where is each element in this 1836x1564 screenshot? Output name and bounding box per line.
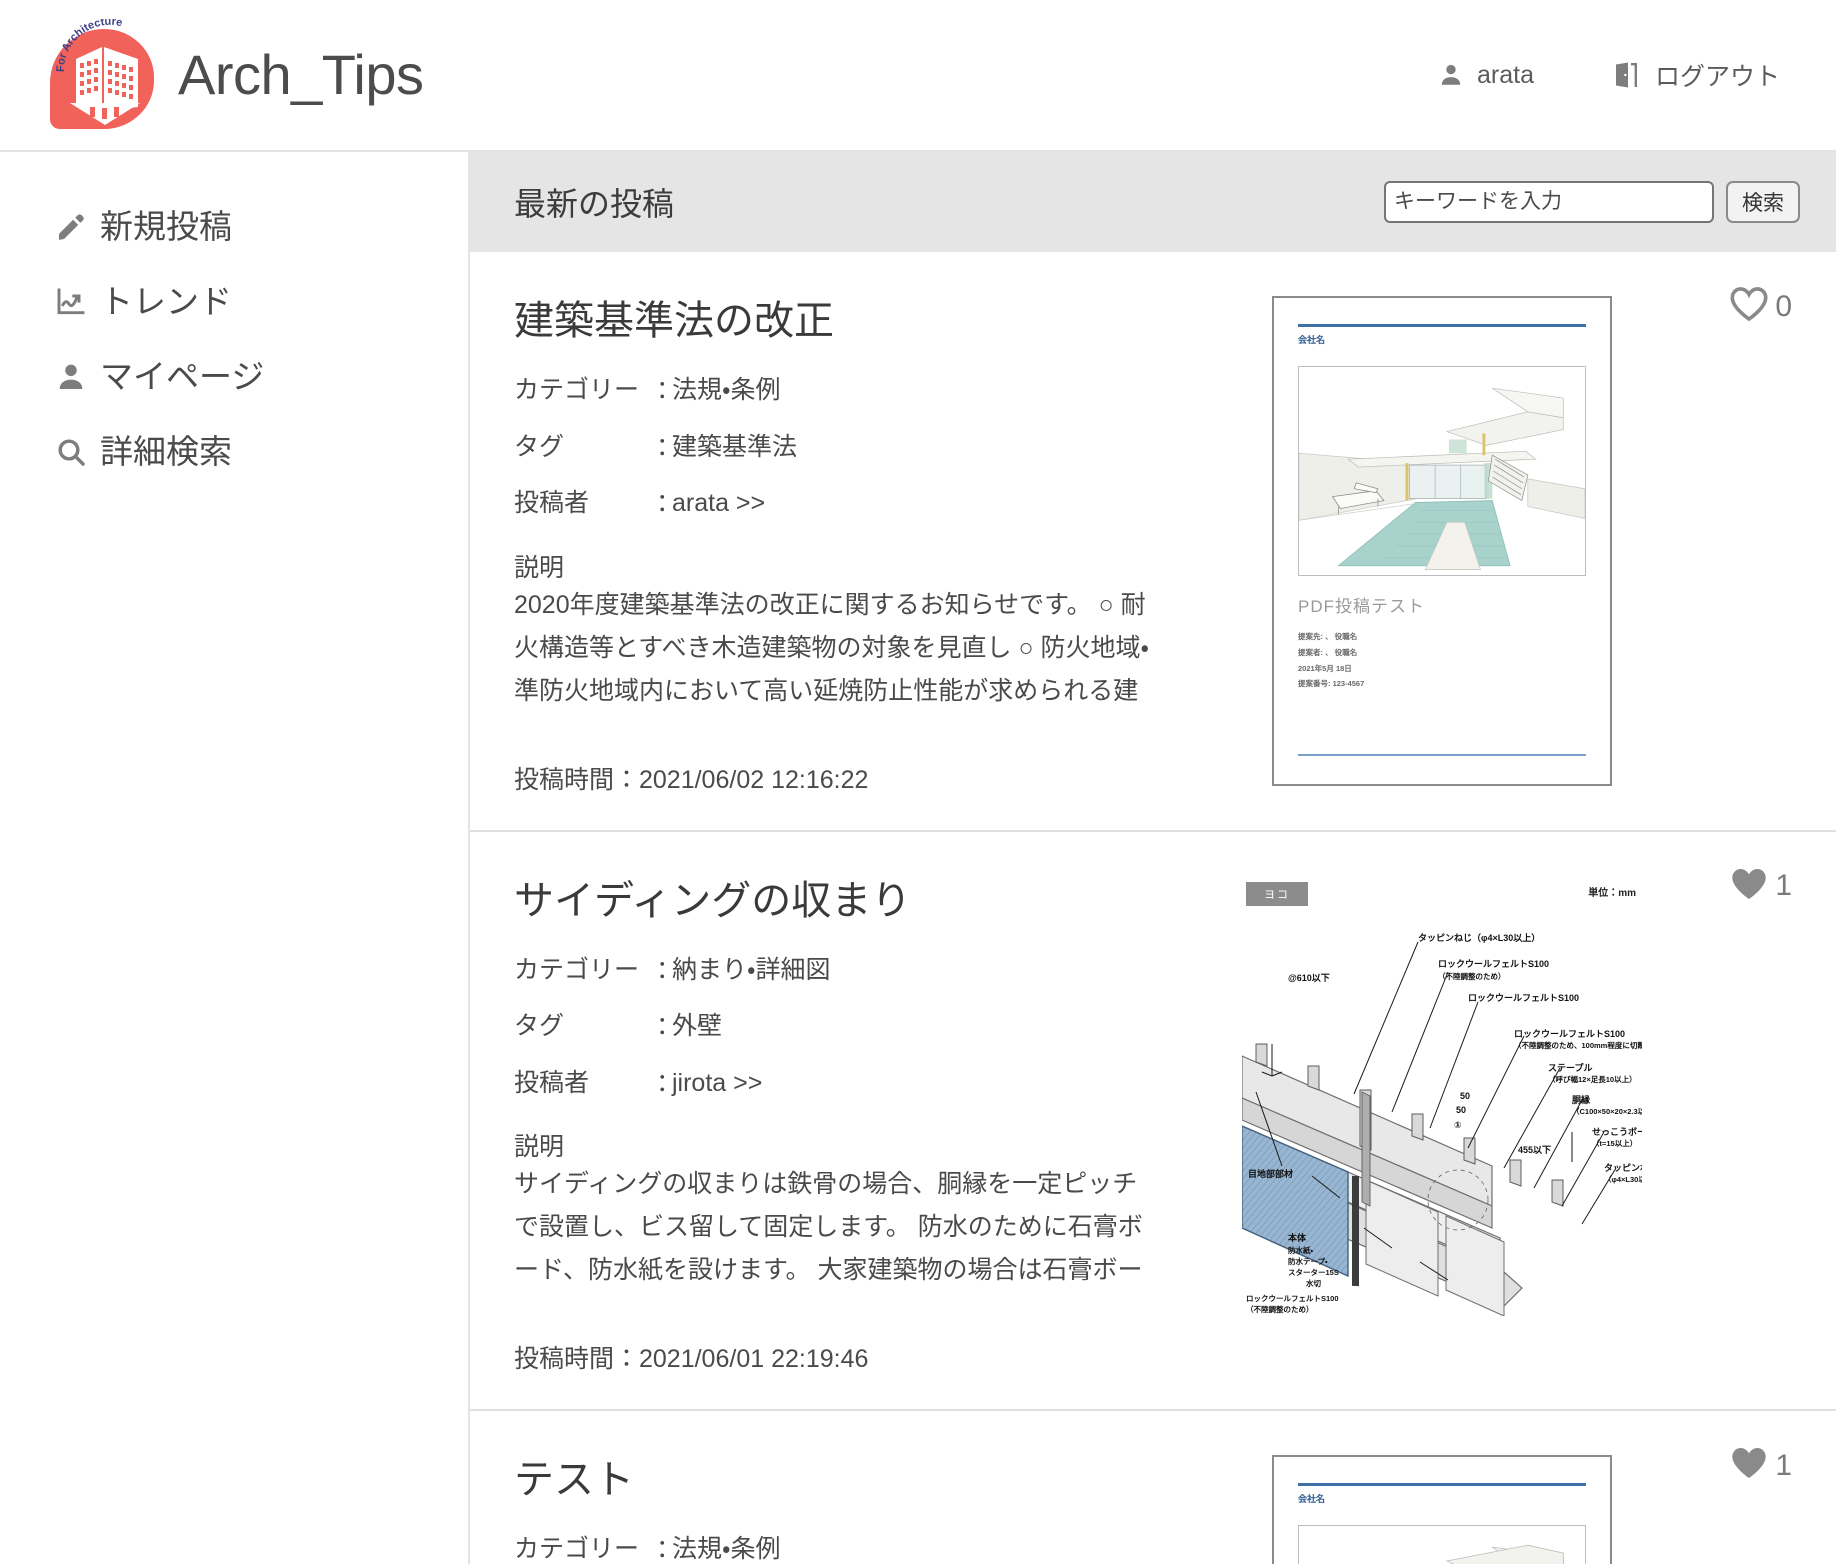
page-layout: 新規投稿 トレンド マイページ <box>0 152 1836 1564</box>
drawing-annotation: ① <box>1454 1119 1462 1132</box>
heart-filled-icon <box>1729 866 1769 907</box>
drawing-annotation: （不陸調整のため、100mm程度に切断したもの） <box>1514 1041 1642 1052</box>
pdf-meta-line: 2021年5月 18日 <box>1298 661 1586 677</box>
post-item[interactable]: 0 建築基準法の改正 カテゴリー ： 法規・条例 タグ ： 建築基準法 投稿者 … <box>470 252 1836 832</box>
drawing-annotation: 455以下 <box>1518 1144 1551 1157</box>
post-thumbnail[interactable]: 会社名 <box>1242 1455 1642 1564</box>
drawing-annotation: 胴縁 <box>1572 1094 1590 1107</box>
drawing-annotation: ロックウールフェルトS100 <box>1246 1294 1339 1305</box>
app-header: For Architecture Arch_Tips arata <box>0 0 1836 152</box>
header-user[interactable]: arata <box>1438 61 1534 90</box>
drawing-annotation: （不陸調整のため） <box>1438 972 1506 983</box>
pdf-doc-title: PDF投稿テスト <box>1298 592 1586 617</box>
main-content: 最新の投稿 検索 0 建築基準法の改正 カテゴリー ： <box>470 152 1836 1564</box>
sidebar-item-label: 詳細検索 <box>100 431 232 474</box>
category-value: 法規・条例 <box>672 1533 781 1564</box>
colon: ： <box>656 374 672 407</box>
author-label: 投稿者 <box>514 487 656 520</box>
sidebar-item-label: マイページ <box>100 356 264 399</box>
search-input[interactable] <box>1384 181 1714 223</box>
drawing-annotation: 水切 <box>1306 1279 1321 1290</box>
post-category-row: カテゴリー ： 法規・条例 <box>514 1533 1154 1564</box>
category-label: カテゴリー <box>514 954 656 987</box>
like-count: 1 <box>1775 1449 1792 1483</box>
brand[interactable]: For Architecture Arch_Tips <box>0 19 424 131</box>
pdf-meta-line: 提案番号: 123-4567 <box>1298 676 1586 692</box>
pdf-image-frame <box>1298 366 1586 576</box>
drawing-annotation: （φ4×L30以上） <box>1604 1175 1642 1186</box>
drawing-annotation: ステープル <box>1548 1062 1592 1075</box>
drawing-annotation: （不陸調整のため） <box>1246 1305 1314 1316</box>
colon: ： <box>656 1067 672 1100</box>
pdf-top-rule <box>1298 1483 1586 1486</box>
drawing-annotation: 目地部部材 <box>1248 1168 1293 1181</box>
like-button[interactable]: 1 <box>1729 866 1792 907</box>
colon: ： <box>656 1533 672 1564</box>
author-link[interactable]: arata >> <box>672 487 765 520</box>
search-area: 検索 <box>1384 181 1800 223</box>
post-category-row: カテゴリー ： 納まり・詳細図 <box>514 954 1154 987</box>
colon: ： <box>656 954 672 987</box>
category-value: 納まり・詳細図 <box>672 954 831 987</box>
like-button[interactable]: 0 <box>1729 286 1792 327</box>
post-author-row: 投稿者 ： jirota >> <box>514 1067 1154 1100</box>
colon: ： <box>656 431 672 464</box>
drawing-annotation: 50 <box>1460 1090 1470 1103</box>
post-item[interactable]: 1 サイディングの収まり カテゴリー ： 納まり・詳細図 タグ ： 外壁 投稿者… <box>470 832 1836 1412</box>
post-thumbnail[interactable]: 会社名 <box>1242 296 1642 796</box>
drawing-annotation: ロックウールフェルトS100 <box>1468 992 1579 1005</box>
logout-button[interactable]: ログアウト <box>1614 57 1780 93</box>
like-count: 0 <box>1775 290 1792 324</box>
pencil-icon <box>52 208 90 246</box>
pdf-image-frame <box>1298 1525 1586 1564</box>
post-tag-row: タグ ： 外壁 <box>514 1010 1154 1043</box>
tag-label: タグ <box>514 1010 656 1043</box>
tag-value: 外壁 <box>672 1010 722 1043</box>
header-user-name: arata <box>1477 61 1534 90</box>
pdf-meta-lines: 提案先: 、 役職名 提案者: 、 役職名 2021年5月 18日 提案番号: … <box>1298 629 1586 692</box>
pdf-company-name: 会社名 <box>1298 1492 1586 1505</box>
post-body: テスト カテゴリー ： 法規・条例 <box>514 1455 1154 1564</box>
logo[interactable]: For Architecture <box>46 19 164 131</box>
tag-label: タグ <box>514 431 656 464</box>
category-label: カテゴリー <box>514 374 656 407</box>
post-title[interactable]: テスト <box>514 1455 1154 1505</box>
logout-label: ログアウト <box>1655 57 1780 93</box>
chart-line-icon <box>52 283 90 321</box>
posted-at: 投稿時間：2021/06/02 12:16:22 <box>514 760 1154 796</box>
author-label: 投稿者 <box>514 1067 656 1100</box>
post-body: サイディングの収まり カテゴリー ： 納まり・詳細図 タグ ： 外壁 投稿者 ：… <box>514 876 1154 1376</box>
drawing-annotation: ロックウールフェルトS100 <box>1514 1028 1625 1041</box>
posted-at: 投稿時間：2021/06/01 22:19:46 <box>514 1339 1154 1375</box>
brand-title: Arch_Tips <box>178 47 424 103</box>
description-label: 説明 <box>514 1127 1154 1163</box>
description-text: サイディングの収まりは鉄骨の場合、胴縁を一定ピッチで設置し、ビス留して固定します… <box>514 1163 1154 1293</box>
drawing-orientation-tag: ヨコ <box>1246 882 1308 906</box>
post-title[interactable]: 建築基準法の改正 <box>514 296 1154 346</box>
post-category-row: カテゴリー ： 法規・条例 <box>514 374 1154 407</box>
pdf-top-rule <box>1298 324 1586 327</box>
like-button[interactable]: 1 <box>1729 1445 1792 1486</box>
pdf-preview: 会社名 <box>1272 1455 1612 1564</box>
drawing-annotation: せっこうボード <box>1592 1126 1642 1139</box>
user-icon <box>52 358 90 396</box>
sidebar-item-label: トレンド <box>100 281 232 324</box>
post-title[interactable]: サイディングの収まり <box>514 876 1154 926</box>
author-link[interactable]: jirota >> <box>672 1067 762 1100</box>
post-author-row: 投稿者 ： arata >> <box>514 487 1154 520</box>
drawing-annotation: @610以下 <box>1288 972 1330 985</box>
pdf-bottom-rule <box>1298 754 1586 756</box>
detail-drawing-preview: ヨコ 単位：mm <box>1242 876 1642 1316</box>
search-button[interactable]: 検索 <box>1726 181 1800 223</box>
drawing-annotation: タッピンねじ（φ4×L30以上） <box>1418 932 1540 945</box>
post-thumbnail[interactable]: ヨコ 単位：mm <box>1242 876 1642 1376</box>
page-title: 最新の投稿 <box>514 179 674 225</box>
door-exit-icon <box>1614 62 1642 88</box>
post-tag-row: タグ ： 建築基準法 <box>514 431 1154 464</box>
colon: ： <box>656 1010 672 1043</box>
header-actions: arata ログアウト <box>1438 57 1836 93</box>
heart-outline-icon <box>1729 286 1769 327</box>
main-header-bar: 最新の投稿 検索 <box>470 152 1836 252</box>
architectural-sketch <box>1299 1526 1585 1564</box>
heart-filled-icon <box>1729 1445 1769 1486</box>
post-body: 建築基準法の改正 カテゴリー ： 法規・条例 タグ ： 建築基準法 投稿者 ： … <box>514 296 1154 796</box>
drawing-unit-label: 単位：mm <box>1588 884 1636 899</box>
description-text: 2020年度建築基準法の改正に関するお知らせです。 ○ 耐火構造等とすべき木造建… <box>514 584 1154 714</box>
sidebar-item-mypage[interactable]: マイページ <box>0 340 468 415</box>
drawing-annotation: スターター15S <box>1288 1268 1339 1279</box>
post-item[interactable]: 1 テスト カテゴリー ： 法規・条例 会社名 <box>470 1411 1836 1564</box>
sidebar-item-label: 新規投稿 <box>100 206 232 249</box>
colon: ： <box>656 487 672 520</box>
drawing-annotation: 50 <box>1456 1104 1466 1117</box>
drawing-annotation: （呼び幅12×足長10以上） <box>1548 1075 1637 1086</box>
drawing-annotation: 本体 <box>1288 1232 1306 1245</box>
like-count: 1 <box>1775 869 1792 903</box>
pdf-meta-line: 提案者: 、 役職名 <box>1298 645 1586 661</box>
drawing-annotation: 防水テープ・ <box>1288 1257 1328 1268</box>
sidebar: 新規投稿 トレンド マイページ <box>0 152 470 1564</box>
user-icon <box>1438 62 1464 88</box>
pdf-preview: 会社名 <box>1272 296 1612 786</box>
pdf-meta-line: 提案先: 、 役職名 <box>1298 629 1586 645</box>
drawing-annotation: （C100×50×20×2.3以上） <box>1572 1107 1642 1118</box>
drawing-annotation: タッピンねじ <box>1604 1162 1642 1175</box>
category-value: 法規・条例 <box>672 374 781 407</box>
sidebar-item-new-post[interactable]: 新規投稿 <box>0 190 468 265</box>
sidebar-item-detail-search[interactable]: 詳細検索 <box>0 415 468 490</box>
category-label: カテゴリー <box>514 1533 656 1564</box>
drawing-annotation: （t=15以上） <box>1592 1139 1637 1150</box>
pdf-company-name: 会社名 <box>1298 333 1586 346</box>
tag-value: 建築基準法 <box>672 431 797 464</box>
sidebar-item-trend[interactable]: トレンド <box>0 265 468 340</box>
search-icon <box>52 433 90 471</box>
drawing-annotation: ロックウールフェルトS100 <box>1438 958 1549 971</box>
architectural-sketch <box>1299 367 1585 575</box>
description-label: 説明 <box>514 548 1154 584</box>
drawing-annotation: 防水紙・ <box>1288 1246 1313 1257</box>
building-icon: For Architecture <box>46 19 164 131</box>
